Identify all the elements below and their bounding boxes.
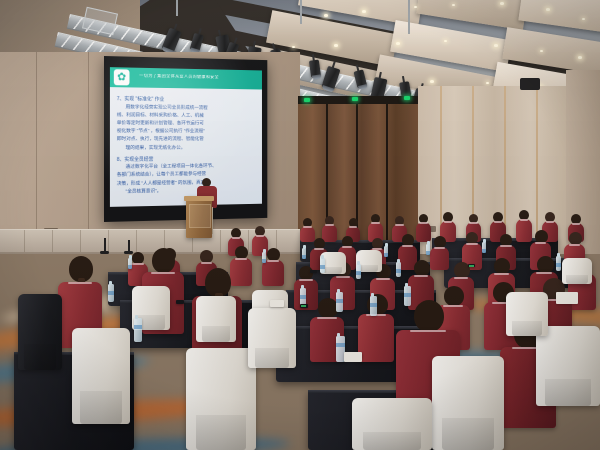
water-bottle xyxy=(108,284,114,302)
slide-text-line: 即时对点、执行，现先进的流程、智能化管 xyxy=(117,136,257,144)
water-bottle xyxy=(396,262,401,277)
water-bottle xyxy=(356,264,361,279)
wall-speaker xyxy=(520,78,540,90)
exit-indicator-light xyxy=(404,96,410,100)
chair xyxy=(18,294,62,370)
water-bottle xyxy=(320,258,325,273)
chair xyxy=(506,292,548,336)
slide-body: 7、实现 "标准化" 作业 用数字化经营实现公司全员形成统一流程 线、利润目标、… xyxy=(117,92,257,197)
lectern xyxy=(186,196,212,238)
chair xyxy=(432,356,504,450)
chair xyxy=(248,308,296,368)
water-bottle xyxy=(134,318,142,342)
exit-indicator-light xyxy=(352,97,358,101)
water-bottle xyxy=(426,244,430,255)
exit-indicator-light xyxy=(304,98,310,102)
water-bottle xyxy=(262,252,266,263)
water-bottle xyxy=(128,258,132,269)
paper-note xyxy=(556,292,578,304)
microphone-stand xyxy=(104,238,106,252)
lectern-top xyxy=(184,196,214,201)
water-bottle xyxy=(384,246,388,257)
water-bottle xyxy=(302,248,306,259)
chair xyxy=(72,328,130,424)
slide-text-line: 理的结果，实现无纸化办公。 xyxy=(117,144,257,152)
paper-note xyxy=(344,352,362,362)
presentation-slide: ✿ 一切为了集团全体从业人员的健康和安全 7、实现 "标准化" 作业 用数字化经… xyxy=(110,67,262,207)
audience-member xyxy=(416,214,431,242)
slide-text-line: 视化数字 "节点" ，根据公司执行 "作业流程" xyxy=(117,128,257,136)
smartphone[interactable] xyxy=(300,304,308,308)
conference-hall-photo: ✿ 一切为了集团全体从业人员的健康和安全 7、实现 "标准化" 作业 用数字化经… xyxy=(0,0,600,450)
water-bottle xyxy=(336,292,343,312)
chair xyxy=(536,326,600,406)
water-bottle xyxy=(556,256,561,271)
flower-logo-glyph: ✿ xyxy=(117,72,126,83)
smartphone[interactable] xyxy=(468,264,475,267)
lectern-front-panel xyxy=(189,204,211,228)
water-bottle xyxy=(482,242,486,253)
smartphone[interactable] xyxy=(176,300,184,304)
chair xyxy=(196,296,236,342)
chair xyxy=(562,258,592,284)
chair xyxy=(352,398,432,450)
smartphone[interactable] xyxy=(310,270,317,273)
water-bottle xyxy=(370,296,377,316)
paper-note xyxy=(270,300,284,307)
flower-logo-icon: ✿ xyxy=(114,69,130,85)
chair xyxy=(186,348,256,450)
water-bottle xyxy=(404,286,411,306)
